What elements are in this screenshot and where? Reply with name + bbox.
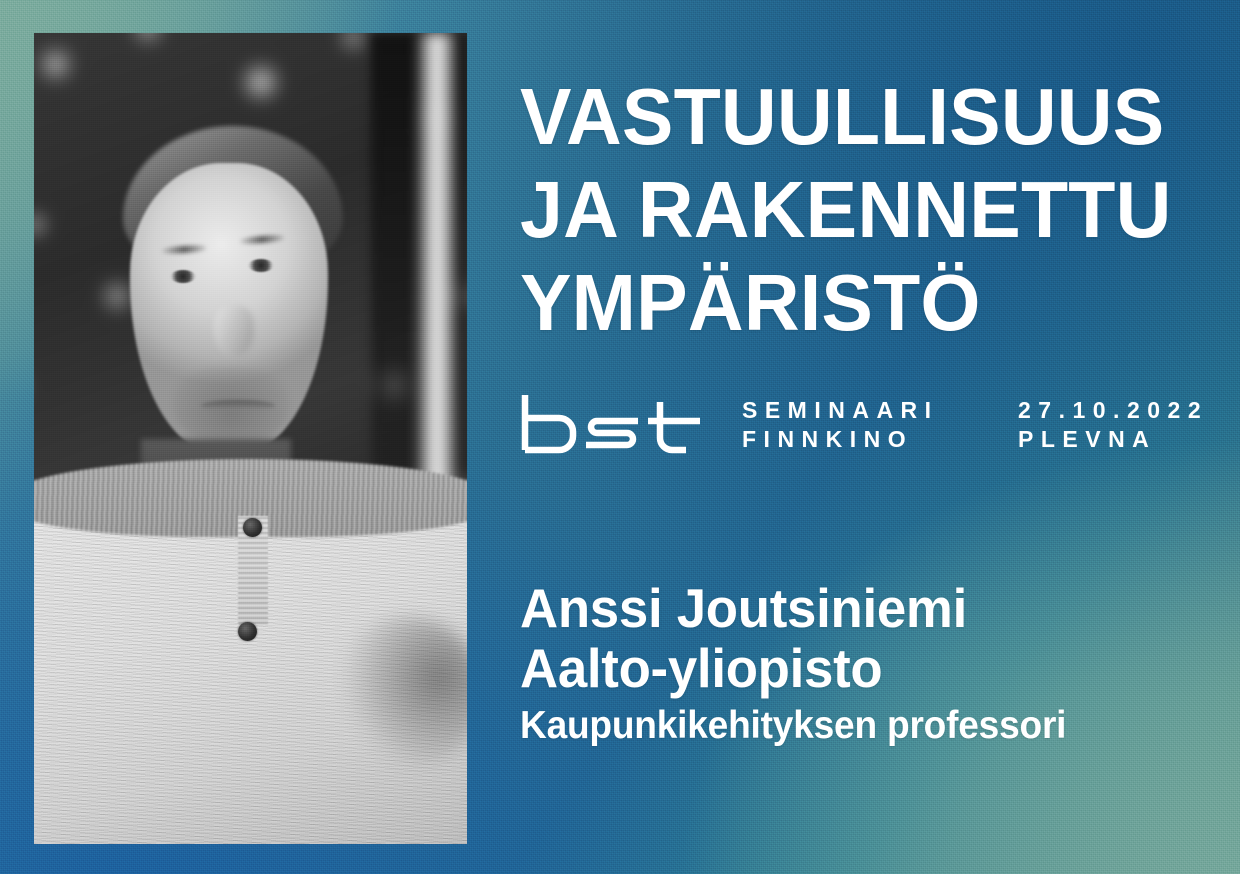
photo-film-grain	[34, 33, 467, 844]
title-line-1: VASTUULLISUUS	[520, 70, 1186, 163]
event-line-seminar-date: SEMINAARI 27.10.2022	[742, 396, 1208, 425]
brand-and-event-row: SEMINAARI 27.10.2022 FINNKINO PLEVNA	[520, 392, 1208, 454]
seminar-poster: VASTUULLISUUS JA RAKENNETTU YMPÄRISTÖ SE…	[0, 0, 1240, 874]
speaker-role: Kaupunkikehityksen professori	[520, 704, 1066, 748]
title-line-2: JA RAKENNETTU	[520, 163, 1186, 256]
bst-logo	[520, 392, 706, 454]
speaker-organization: Aalto-yliopisto	[520, 638, 1072, 698]
event-venue-hall: PLEVNA	[1018, 425, 1156, 454]
title-line-3: YMPÄRISTÖ	[520, 256, 1186, 349]
speaker-photo	[34, 33, 467, 844]
event-line-venue: FINNKINO PLEVNA	[742, 425, 1208, 454]
event-date: 27.10.2022	[1018, 396, 1208, 425]
speaker-name: Anssi Joutsiniemi	[520, 578, 1072, 638]
event-details: SEMINAARI 27.10.2022 FINNKINO PLEVNA	[742, 392, 1208, 454]
poster-title: VASTUULLISUUS JA RAKENNETTU YMPÄRISTÖ	[520, 70, 1186, 349]
speaker-block: Anssi Joutsiniemi Aalto-yliopisto Kaupun…	[520, 578, 1095, 748]
event-type-label: SEMINAARI	[742, 396, 1018, 425]
event-venue: FINNKINO	[742, 425, 1018, 454]
